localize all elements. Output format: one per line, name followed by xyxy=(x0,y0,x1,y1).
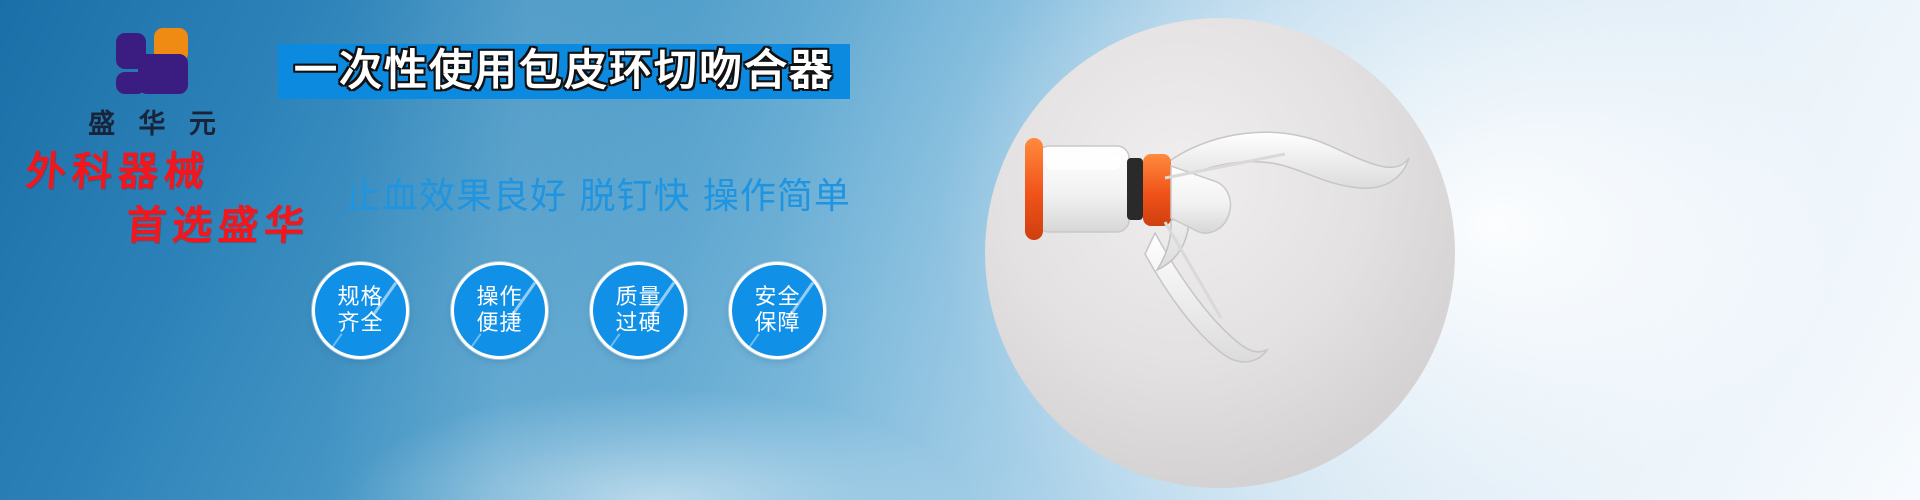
badge-operation[interactable]: 操作 便捷 xyxy=(451,262,548,359)
badge-label-line-2: 齐全 xyxy=(337,311,383,337)
bottom-glow-decoration xyxy=(346,390,966,500)
badge-label-line-2: 过硬 xyxy=(615,311,661,337)
promo-banner: 盛 华 元 外科器械 首选盛华 一次性使用包皮环切吻合器 止血效果良好 脱钉快 … xyxy=(0,0,1920,500)
logo-square-left-lower xyxy=(116,72,146,94)
badge-label-line-1: 质量 xyxy=(615,285,661,311)
product-title-bar: 一次性使用包皮环切吻合器 xyxy=(278,44,850,99)
stapler-lower-arm xyxy=(1145,233,1267,362)
badge-specification[interactable]: 规格 齐全 xyxy=(312,262,409,359)
stapler-barrel-highlight xyxy=(1045,154,1121,170)
badge-label-line-1: 操作 xyxy=(476,285,522,311)
badge-label-line-1: 规格 xyxy=(337,285,383,311)
calligraphy-line-1: 外科器械 xyxy=(18,152,381,192)
product-photo xyxy=(985,18,1455,488)
badge-safety[interactable]: 安全 保障 xyxy=(729,262,826,359)
feature-badge-list: 规格 齐全 操作 便捷 质量 过硬 安全 保障 xyxy=(312,262,826,359)
subtitle: 止血效果良好 脱钉快 操作简单 xyxy=(345,167,851,219)
calligraphy-line-2: 首选盛华 xyxy=(15,206,378,246)
stapler-orange-collar xyxy=(1143,154,1171,226)
stapler-black-band xyxy=(1127,158,1143,220)
interlocking-squares-logo-icon xyxy=(116,28,188,94)
stapler-orange-cap xyxy=(1025,138,1043,240)
badge-label-line-2: 便捷 xyxy=(476,311,522,337)
calligraphy-slogan: 外科器械 首选盛华 xyxy=(15,152,382,246)
brand-logo[interactable]: 盛 华 元 xyxy=(62,28,242,141)
badge-label-line-1: 安全 xyxy=(754,285,800,311)
brand-name: 盛 华 元 xyxy=(62,102,242,141)
circumcision-stapler-illustration xyxy=(985,18,1455,488)
badge-quality[interactable]: 质量 过硬 xyxy=(590,262,687,359)
badge-label-line-2: 保障 xyxy=(754,311,800,337)
logo-square-center xyxy=(138,54,188,94)
page-title: 一次性使用包皮环切吻合器 xyxy=(294,50,834,93)
